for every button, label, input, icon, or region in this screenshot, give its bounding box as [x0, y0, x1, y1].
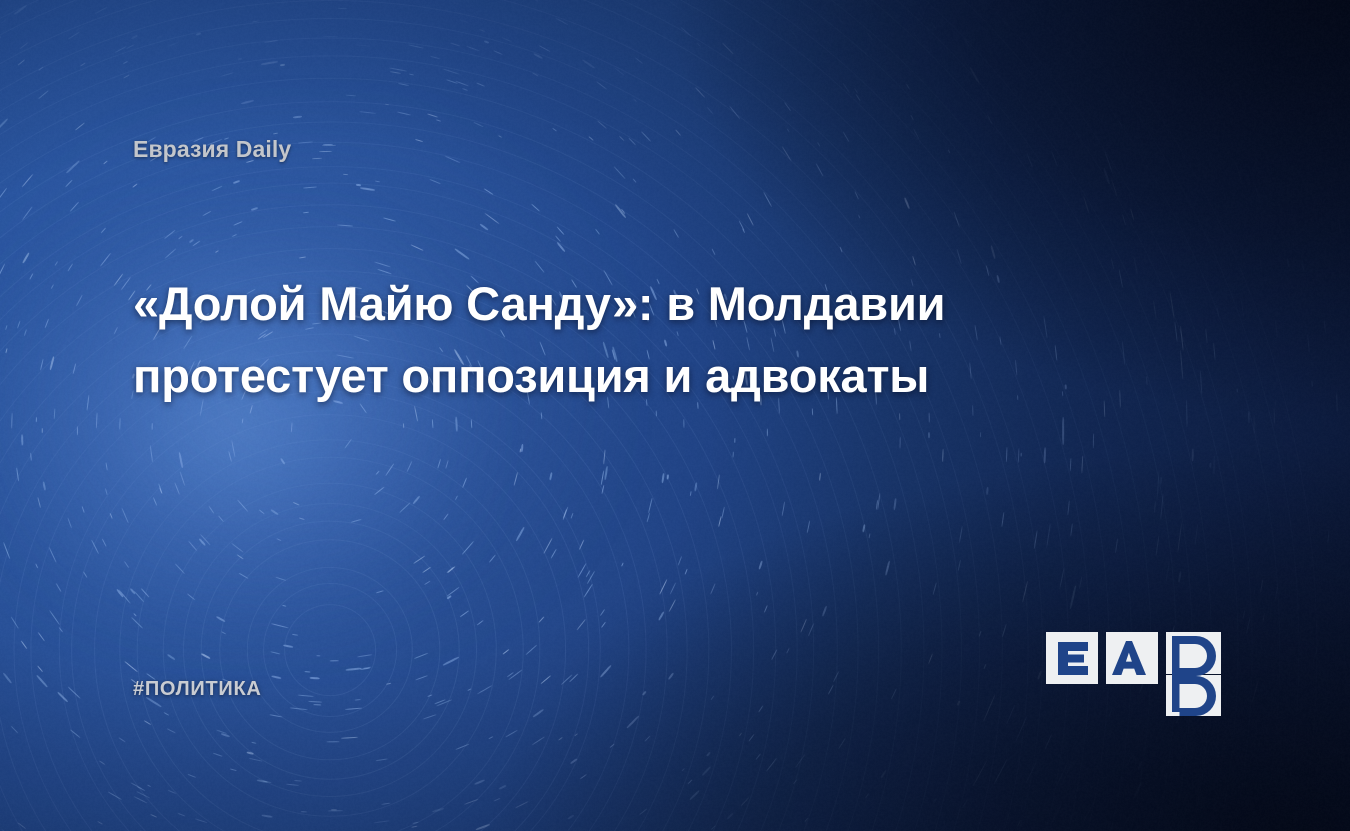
ead-logo-icon [1046, 632, 1221, 716]
ead-logo-mark [1046, 632, 1221, 716]
category-hashtag: #ПОЛИТИКА [133, 678, 262, 701]
cover-content: Евразия Daily «Долой Майю Санду»: в Молд… [0, 0, 1350, 831]
brand-logotype: Евразия Daily [133, 136, 291, 163]
article-cover-card: Евразия Daily «Долой Майю Санду»: в Молд… [0, 0, 1350, 831]
page-title: «Долой Майю Санду»: в Молдавии протестуе… [133, 268, 1093, 412]
